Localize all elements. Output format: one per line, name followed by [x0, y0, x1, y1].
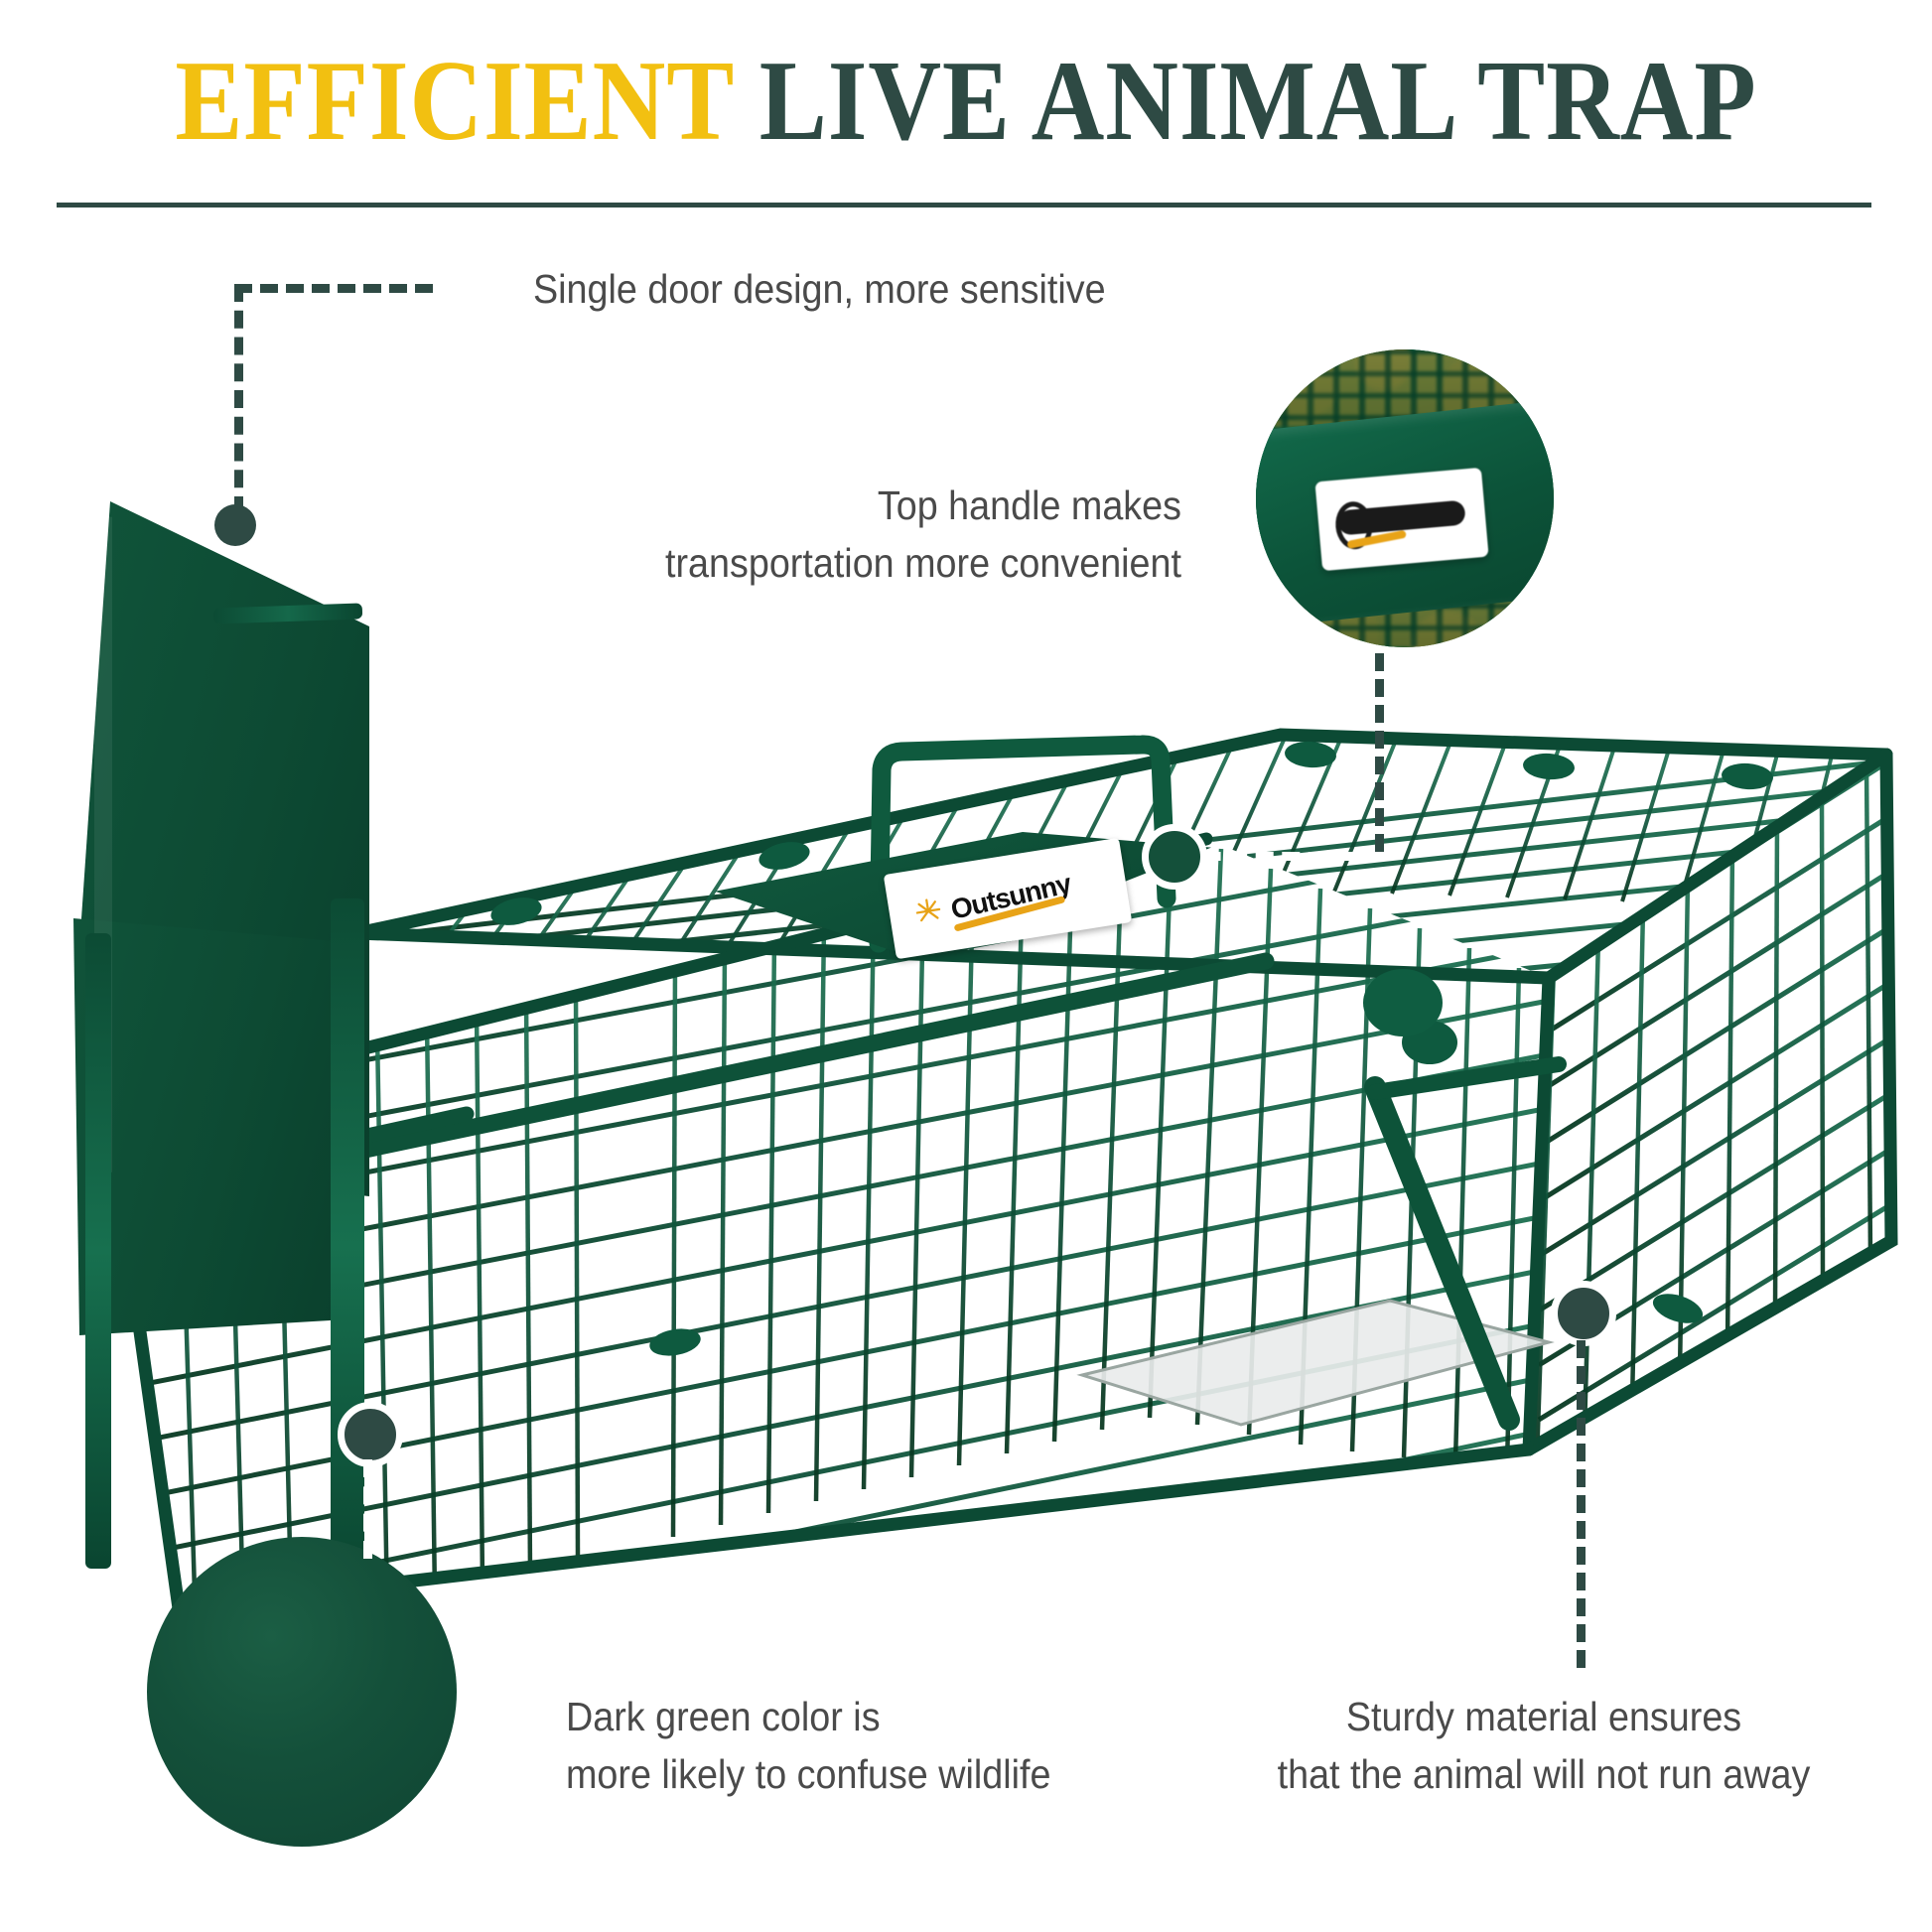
door-guide-rail-right: [331, 898, 364, 1593]
callout-dark-green-line2: more likely to confuse wildlife: [566, 1745, 1050, 1803]
callout-sturdy-line2: that the animal will not run away: [1242, 1745, 1845, 1803]
magnifier-brand-label: [1314, 468, 1488, 571]
callout-sturdy-line1: Sturdy material ensures: [1242, 1688, 1845, 1745]
dot-marker-dark-green: [338, 1402, 403, 1467]
callout-dark-green: Dark green color is more likely to confu…: [566, 1688, 1050, 1803]
callout-top-handle-line1: Top handle makes: [570, 477, 1181, 534]
callout-single-door: Single door design, more sensitive: [533, 260, 1106, 318]
leader-sturdy-vertical: [1577, 1340, 1586, 1668]
leader-top-handle-vertical: [1375, 653, 1384, 852]
callout-dark-green-line1: Dark green color is: [566, 1688, 1050, 1745]
magnifier-detail-circle: [1256, 349, 1554, 647]
callout-top-handle: Top handle makes transportation more con…: [570, 477, 1181, 592]
dot-marker-top-handle: [1142, 824, 1207, 890]
callout-single-door-line1: Single door design, more sensitive: [533, 260, 1106, 318]
sun-icon: [911, 894, 945, 927]
door-guide-rail-left: [85, 933, 111, 1569]
door-knob: [1363, 969, 1443, 1036]
dot-marker-single-door: [214, 504, 256, 546]
leader-dark-green-vertical: [363, 1459, 372, 1559]
infographic-canvas: EFFICIENT LIVE ANIMAL TRAP: [0, 0, 1932, 1932]
callout-top-handle-line2: transportation more convenient: [570, 534, 1181, 592]
callout-sturdy: Sturdy material ensures that the animal …: [1242, 1688, 1845, 1803]
leader-single-door-horizontal: [234, 284, 433, 293]
leader-single-door-vertical: [234, 284, 243, 514]
dot-marker-sturdy: [1551, 1281, 1616, 1346]
color-swatch-circle: [147, 1537, 457, 1847]
